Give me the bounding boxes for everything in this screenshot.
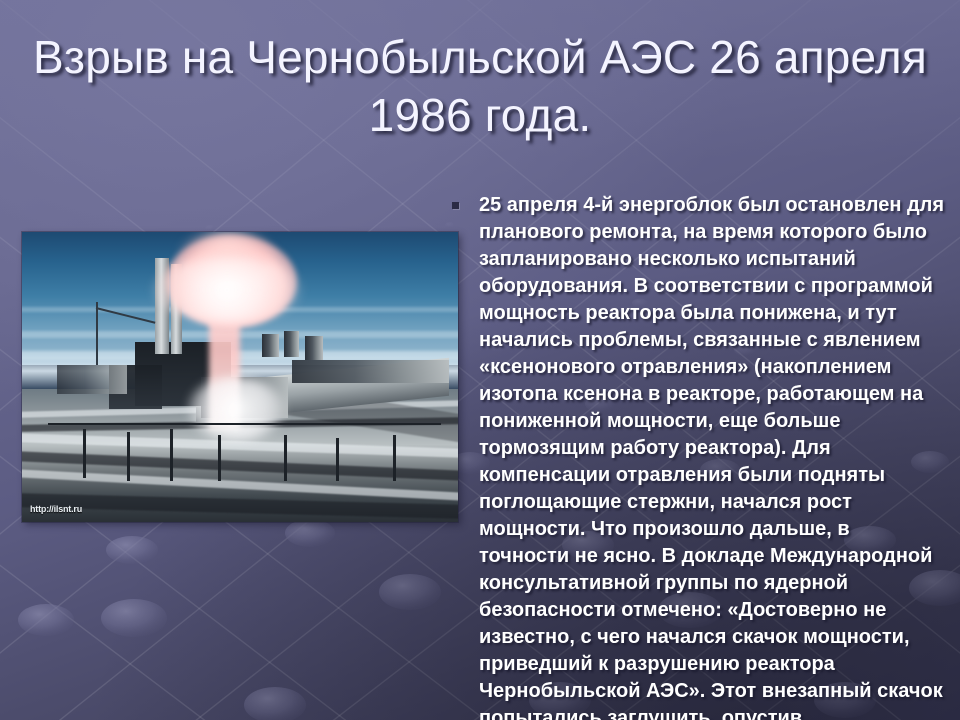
photo-power-line [48, 423, 440, 425]
photo-utility-pole [393, 435, 396, 481]
photo-building [305, 336, 322, 359]
chernobyl-explosion-photo: http://ilsnt.ru [22, 232, 458, 522]
photo-building [262, 334, 279, 357]
photo-building [292, 360, 449, 383]
photo-utility-pole [170, 429, 173, 481]
photo-crane-mast [96, 302, 98, 366]
photo-utility-pole [127, 432, 130, 481]
photo-building [57, 365, 127, 394]
body-paragraph: 25 апреля 4-й энергоблок был остановлен … [479, 192, 945, 720]
photo-utility-pole [83, 429, 86, 478]
content-bullet-block: 25 апреля 4-й энергоблок был остановлен … [452, 192, 948, 720]
photo-watermark: http://ilsnt.ru [30, 504, 82, 514]
photo-sky-streak [22, 331, 458, 338]
photo-utility-pole [218, 435, 221, 481]
square-bullet-icon [452, 202, 459, 209]
photo-building [284, 331, 299, 357]
photo-explosion-base-glow [188, 377, 284, 441]
presentation-slide: Взрыв на Чернобыльской АЭС 26 апреля 198… [0, 0, 960, 720]
page-title: Взрыв на Чернобыльской АЭС 26 апреля 198… [28, 28, 932, 144]
photo-utility-pole [336, 438, 339, 482]
photo-explosion-plume [153, 258, 301, 322]
photo-utility-pole [284, 435, 287, 481]
photo-canvas: http://ilsnt.ru [22, 232, 458, 522]
